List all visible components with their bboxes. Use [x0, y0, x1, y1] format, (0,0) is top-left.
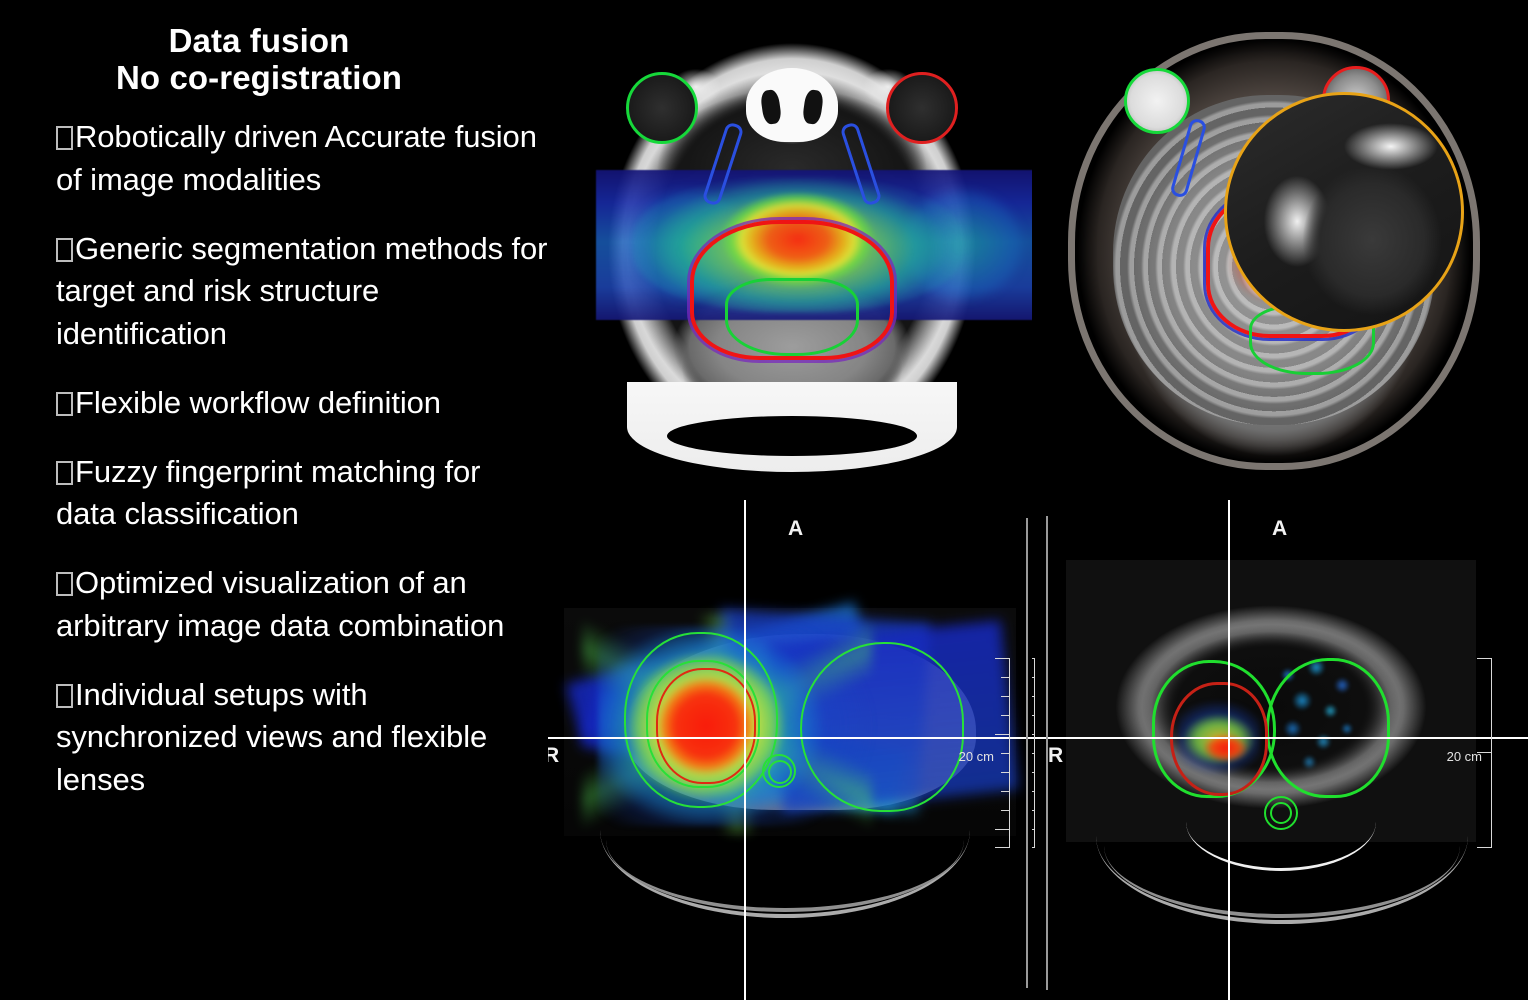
bullet-item: Generic segmentation methods for target … — [56, 228, 548, 356]
panel-mri-lens[interactable] — [1032, 0, 1528, 500]
bullet-list: Robotically driven Accurate fusion of im… — [56, 116, 548, 828]
scale-label: 20 cm — [959, 749, 994, 764]
crosshair-vertical[interactable] — [1228, 500, 1230, 1000]
contour-brain-green — [800, 642, 964, 812]
bullet-item: Robotically driven Accurate fusion of im… — [56, 116, 548, 202]
bullet-text: Fuzzy fingerprint matching for data clas… — [56, 454, 480, 532]
title-line-1: Data fusion — [0, 22, 518, 59]
scale-ruler — [1009, 658, 1010, 848]
page-title: Data fusion No co-registration — [0, 22, 548, 97]
crosshair-vertical[interactable] — [744, 500, 746, 1000]
bullet-text: Robotically driven Accurate fusion of im… — [56, 119, 537, 197]
tofu-box-icon — [56, 461, 73, 485]
tofu-box-icon — [56, 684, 73, 708]
pet-ct-slab — [1066, 560, 1476, 842]
treatment-couch-inner — [1104, 846, 1460, 918]
orientation-marker-anterior: A — [788, 517, 803, 541]
contour-orbit-green — [626, 72, 698, 144]
ct-sinus — [746, 68, 838, 142]
tofu-box-icon — [56, 126, 73, 150]
bullet-text: Generic segmentation methods for target … — [56, 231, 547, 352]
contour-oar-inner-green — [768, 760, 792, 784]
contour-lung-right-green — [1266, 658, 1390, 798]
crosshair-horizontal[interactable] — [1032, 737, 1528, 739]
scale-label: 20 cm — [1447, 749, 1482, 764]
bullet-item: Fuzzy fingerprint matching for data clas… — [56, 451, 548, 537]
panel-edge-bar — [1046, 516, 1048, 990]
panel-edge-bar — [1026, 518, 1028, 988]
bullet-item: Optimized visualization of an arbitrary … — [56, 562, 548, 648]
bullet-text: Optimized visualization of an arbitrary … — [56, 565, 504, 643]
panel-ct-dose[interactable] — [548, 0, 1038, 500]
orientation-marker-right: R — [548, 744, 559, 768]
bullet-text: Flexible workflow definition — [75, 385, 441, 420]
orientation-marker-anterior: A — [1272, 517, 1287, 541]
bullet-item: Flexible workflow definition — [56, 382, 548, 425]
ct-posterior-skull — [627, 382, 957, 472]
crosshair-horizontal[interactable] — [548, 737, 1032, 739]
panel-dose-3d[interactable]: A R 20 cm — [548, 500, 1032, 1000]
orientation-marker-right: R — [1048, 744, 1063, 768]
mri-head-outline — [1062, 26, 1486, 476]
contour-aorta-inner-green — [1270, 802, 1292, 824]
scale-ruler-left — [1034, 658, 1035, 848]
contour-orbit-red — [886, 72, 958, 144]
lens-circle-overlay[interactable] — [1224, 92, 1464, 332]
contour-orbit-green — [1124, 68, 1190, 134]
dose-3d-scene — [564, 608, 1016, 836]
treatment-couch-inner — [606, 840, 964, 912]
slide-root: Data fusion No co-registration Robotical… — [0, 0, 1528, 1000]
bullet-text: Individual setups with synchronized view… — [56, 677, 487, 798]
tofu-box-icon — [56, 238, 73, 262]
scale-ruler — [1491, 658, 1492, 848]
bullet-item: Individual setups with synchronized view… — [56, 674, 548, 802]
panel-pet-ct[interactable]: A R 20 cm Slice: 75 — [1032, 500, 1528, 1000]
tofu-box-icon — [56, 392, 73, 416]
ct-head-outline — [582, 22, 1002, 478]
contour-target-red — [656, 668, 756, 784]
title-line-2: No co-registration — [0, 59, 518, 96]
tofu-box-icon — [56, 572, 73, 596]
contour-brainstem-green — [725, 278, 859, 356]
text-column: Data fusion No co-registration Robotical… — [0, 0, 548, 1000]
